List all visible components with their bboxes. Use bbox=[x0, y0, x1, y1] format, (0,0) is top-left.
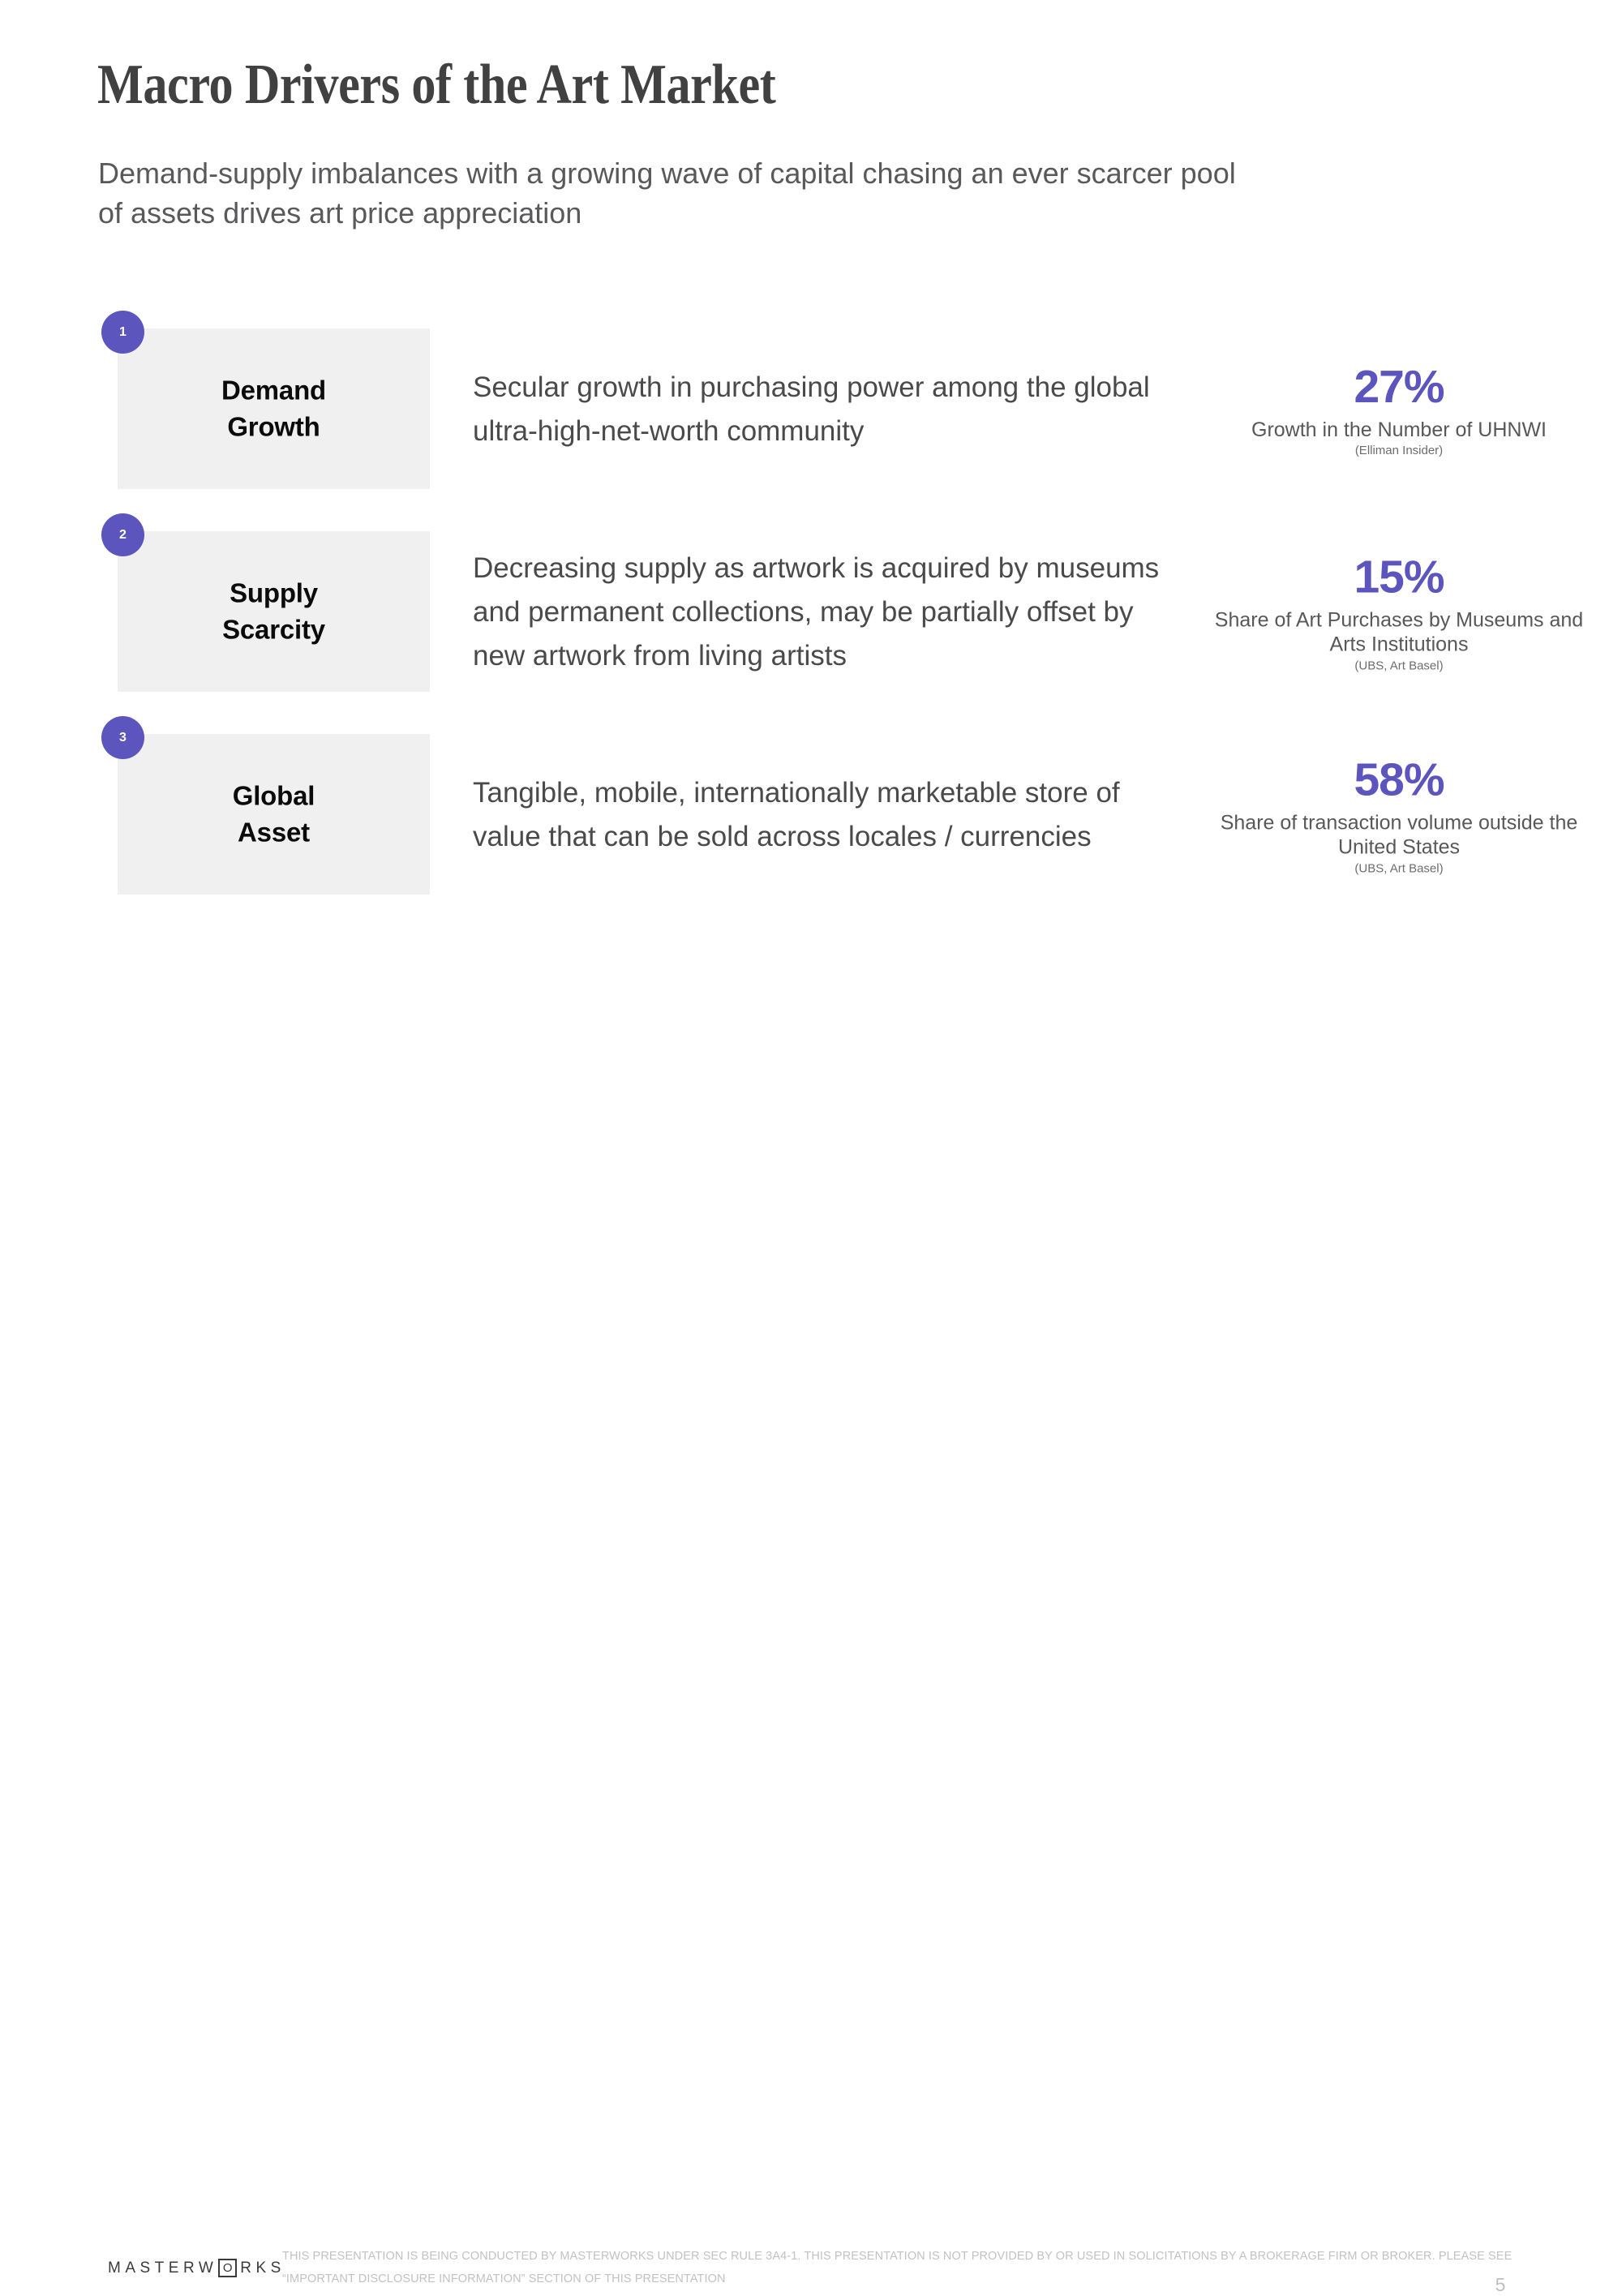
driver-label-line2: Growth bbox=[118, 409, 430, 445]
page-number: 5 bbox=[1484, 2274, 1517, 2296]
stat-label: Share of Art Purchases by Museums and Ar… bbox=[1208, 607, 1590, 657]
stat-value: 27% bbox=[1208, 362, 1590, 413]
page-title: Macro Drivers of the Art Market bbox=[97, 57, 775, 114]
driver-label-line1: Supply bbox=[118, 575, 430, 612]
logo-boxed-o-icon: O bbox=[218, 2259, 237, 2277]
stat-source: (UBS, Art Basel) bbox=[1208, 861, 1590, 875]
driver-label-box: Global Asset bbox=[118, 734, 430, 895]
stat-value: 58% bbox=[1208, 755, 1590, 806]
driver-number-badge: 3 bbox=[101, 716, 144, 759]
driver-label: Demand Growth bbox=[118, 372, 430, 444]
driver-stat: 58% Share of transaction volume outside … bbox=[1208, 755, 1590, 876]
driver-label-line2: Asset bbox=[118, 814, 430, 851]
driver-row: 2 Supply Scarcity Decreasing supply as a… bbox=[0, 531, 1622, 693]
stat-label: Growth in the Number of UHNWI bbox=[1208, 418, 1590, 443]
driver-label-line2: Scarcity bbox=[118, 612, 430, 648]
page-subtitle: Demand-supply imbalances with a growing … bbox=[98, 154, 1250, 233]
driver-label: Global Asset bbox=[118, 778, 430, 850]
driver-label: Supply Scarcity bbox=[118, 575, 430, 647]
stat-value: 15% bbox=[1208, 552, 1590, 603]
stat-source: (UBS, Art Basel) bbox=[1208, 659, 1590, 672]
masterworks-logo: MASTERW O RKS bbox=[108, 2259, 285, 2277]
driver-number-badge: 2 bbox=[101, 513, 144, 556]
driver-description: Decreasing supply as artwork is acquired… bbox=[473, 547, 1170, 678]
driver-label-line1: Demand bbox=[118, 372, 430, 409]
logo-text-part1: MASTERW bbox=[108, 2260, 217, 2277]
disclaimer-text: THIS PRESENTATION IS BEING CONDUCTED BY … bbox=[282, 2245, 1588, 2291]
logo-text-part2: RKS bbox=[240, 2260, 285, 2277]
stat-source: (Elliman Insider) bbox=[1208, 444, 1590, 457]
driver-label-line1: Global bbox=[118, 778, 430, 814]
driver-row: 1 Demand Growth Secular growth in purcha… bbox=[0, 328, 1622, 491]
footer: MASTERW O RKS THIS PRESENTATION IS BEING… bbox=[0, 1111, 1622, 1217]
driver-label-box: Supply Scarcity bbox=[118, 531, 430, 692]
driver-stat: 15% Share of Art Purchases by Museums an… bbox=[1208, 552, 1590, 673]
driver-description: Tangible, mobile, internationally market… bbox=[473, 771, 1170, 859]
driver-row: 3 Global Asset Tangible, mobile, interna… bbox=[0, 734, 1622, 896]
driver-stat: 27% Growth in the Number of UHNWI (Ellim… bbox=[1208, 362, 1590, 457]
driver-number-badge: 1 bbox=[101, 311, 144, 354]
driver-description: Secular growth in purchasing power among… bbox=[473, 366, 1170, 453]
driver-label-box: Demand Growth bbox=[118, 328, 430, 489]
stat-label: Share of transaction volume outside the … bbox=[1208, 810, 1590, 860]
